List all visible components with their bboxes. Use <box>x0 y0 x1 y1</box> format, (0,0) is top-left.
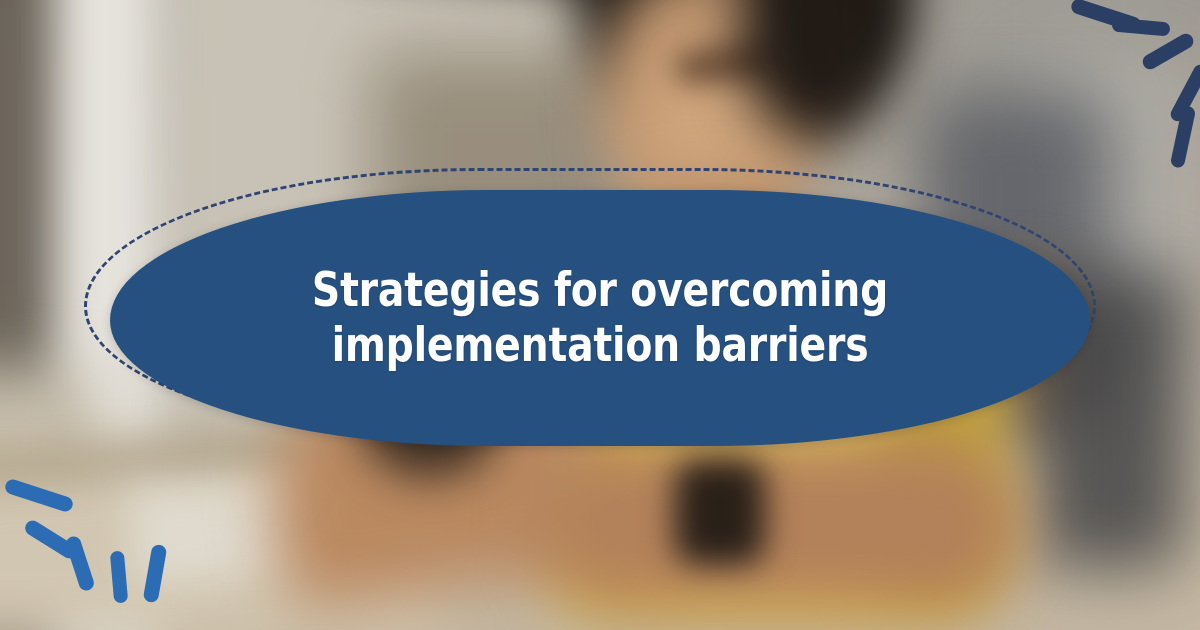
screenshot-canvas: Strategies for overcoming implementation… <box>0 0 1200 630</box>
headline-card-inner: Strategies for overcoming implementation… <box>220 263 980 374</box>
burst-dash <box>143 544 168 604</box>
burst-dash <box>1112 17 1171 36</box>
burst-dash <box>3 478 74 514</box>
burst-dash <box>64 535 96 593</box>
sparkle-burst-icon-top-right <box>1040 8 1200 198</box>
burst-dash <box>1140 31 1196 72</box>
sparkle-burst-icon-bottom-left <box>8 458 188 630</box>
page-title: Strategies for overcoming implementation… <box>247 263 954 374</box>
burst-dash <box>110 550 128 603</box>
headline-card: Strategies for overcoming implementation… <box>110 190 1090 446</box>
